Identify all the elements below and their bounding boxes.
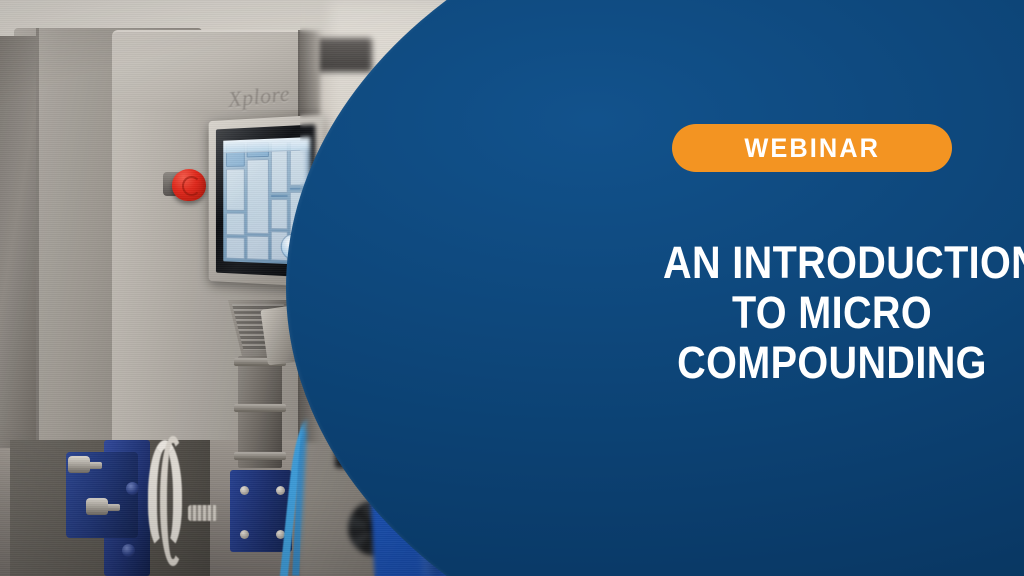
hmi-column xyxy=(226,143,245,259)
hmi-panel xyxy=(247,236,269,260)
panel-content: WEBINAR AN INTRODUCTION TO MICRO COMPOUN… xyxy=(640,0,1024,576)
title-line-2: TO MICRO xyxy=(663,288,1001,338)
adjustment-knob[interactable] xyxy=(68,456,90,473)
compounder-side-panel xyxy=(0,36,36,448)
webinar-banner: Xplore xyxy=(0,0,1024,576)
hmi-panel xyxy=(226,169,245,211)
hmi-panel xyxy=(226,237,245,260)
hmi-panel xyxy=(271,195,288,197)
hmi-panel xyxy=(271,199,288,229)
hmi-graph-panel xyxy=(247,159,269,235)
barrel-band xyxy=(234,404,286,412)
clamp-bolt xyxy=(240,530,249,539)
adjustment-knob[interactable] xyxy=(86,498,108,515)
webinar-tag-badge[interactable]: WEBINAR xyxy=(672,124,952,172)
bracket-pivot xyxy=(122,544,135,557)
title-line-3: COMPOUNDING xyxy=(663,338,1001,388)
white-hose-secondary xyxy=(160,436,186,566)
page-title: AN INTRODUCTION TO MICRO COMPOUNDING xyxy=(640,238,1024,388)
emergency-stop-button-icon[interactable] xyxy=(172,169,206,201)
hose-clamp xyxy=(188,505,218,521)
hmi-panel xyxy=(226,213,245,235)
webinar-tag-label: WEBINAR xyxy=(744,135,880,162)
clamp-bolt xyxy=(240,486,249,495)
clamp-bolt xyxy=(276,486,285,495)
compounder-seam xyxy=(36,28,39,448)
barrel-band xyxy=(234,452,286,460)
title-line-1: AN INTRODUCTION xyxy=(663,238,1001,288)
bracket-pivot xyxy=(126,482,139,495)
hmi-column xyxy=(247,142,269,260)
